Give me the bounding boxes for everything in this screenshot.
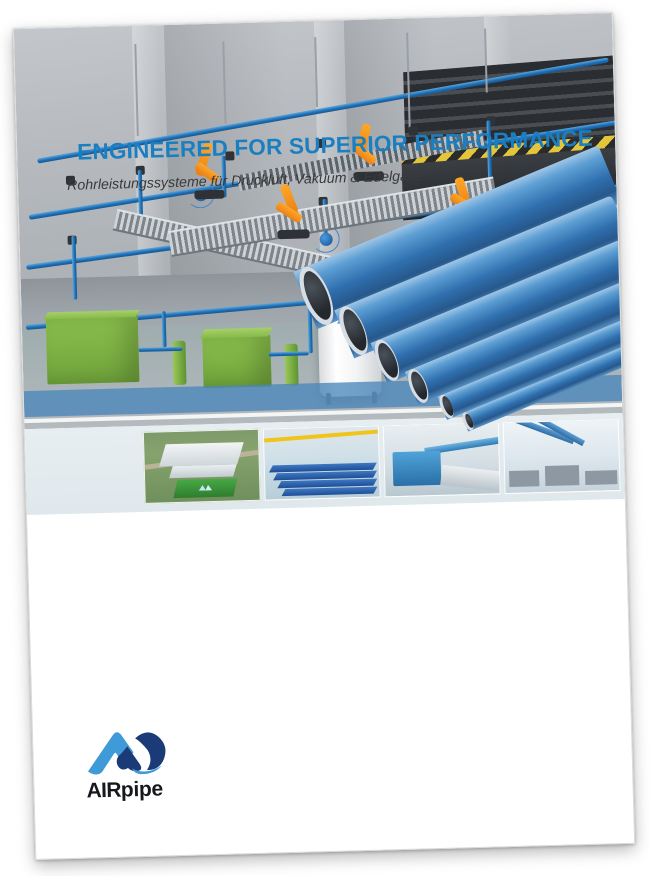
wordmark-pipe: pipe — [121, 777, 164, 801]
airpipe-logo-mark — [83, 725, 176, 779]
wordmark-air: AIR — [86, 779, 121, 803]
filter-unit-2 — [284, 344, 298, 386]
brochure-cover-screenshot: ENGINEERED FOR SUPERIOR PERFORMANCE Rohr… — [0, 0, 650, 876]
page-wrapper: ENGINEERED FOR SUPERIOR PERFORMANCE Rohr… — [0, 0, 650, 876]
product-image-pipes — [295, 209, 631, 448]
airpipe-logo: AIRpipe — [83, 725, 195, 806]
thumbnail-factory-aerial — [143, 429, 261, 504]
compressor-unit — [46, 314, 140, 384]
refrigerant-dryer — [202, 334, 271, 388]
airpipe-wordmark: AIRpipe — [86, 777, 163, 803]
brochure-page: ENGINEERED FOR SUPERIOR PERFORMANCE Rohr… — [13, 12, 635, 860]
